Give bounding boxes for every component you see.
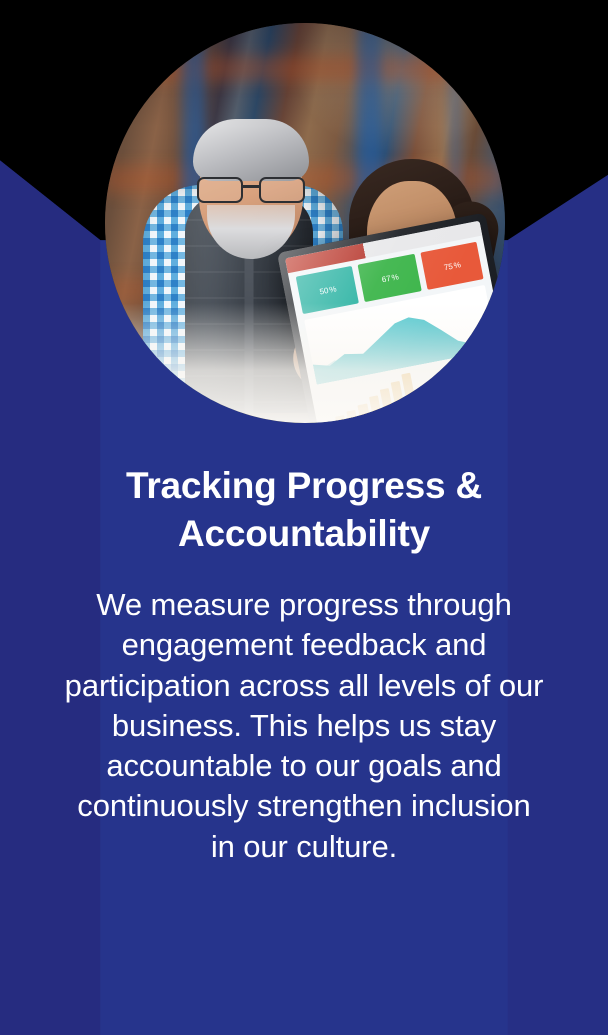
tablet-screen: 50% 67% 75% (285, 221, 505, 423)
kpi-value: 67 (381, 273, 391, 284)
page-title: Tracking Progress & Accountability (0, 462, 608, 559)
kpi-card: 50% (296, 266, 360, 314)
kpi-unit: % (391, 272, 400, 282)
eyeglasses-icon (195, 177, 307, 199)
grey-hair (193, 119, 309, 181)
text-content: Tracking Progress & Accountability We me… (0, 462, 608, 867)
body-text: We measure progress through engagement f… (0, 585, 608, 867)
kpi-unit: % (453, 260, 462, 270)
donut-chart (443, 363, 473, 393)
kpi-value: 75 (443, 261, 453, 272)
hero-image: 50% 67% 75% (105, 23, 505, 423)
belt (189, 413, 313, 423)
kpi-card: 67% (358, 254, 422, 302)
bar (368, 395, 382, 420)
kpi-card: 75% (420, 242, 484, 290)
feature-card: 50% 67% 75% (0, 0, 608, 1035)
bar (324, 421, 334, 423)
kpi-value: 50 (319, 285, 329, 296)
bar (347, 410, 359, 423)
bar (335, 415, 346, 423)
dashboard-donut-charts (443, 358, 504, 394)
donut-chart (471, 355, 505, 390)
bar (358, 403, 370, 423)
kpi-unit: % (328, 284, 337, 294)
